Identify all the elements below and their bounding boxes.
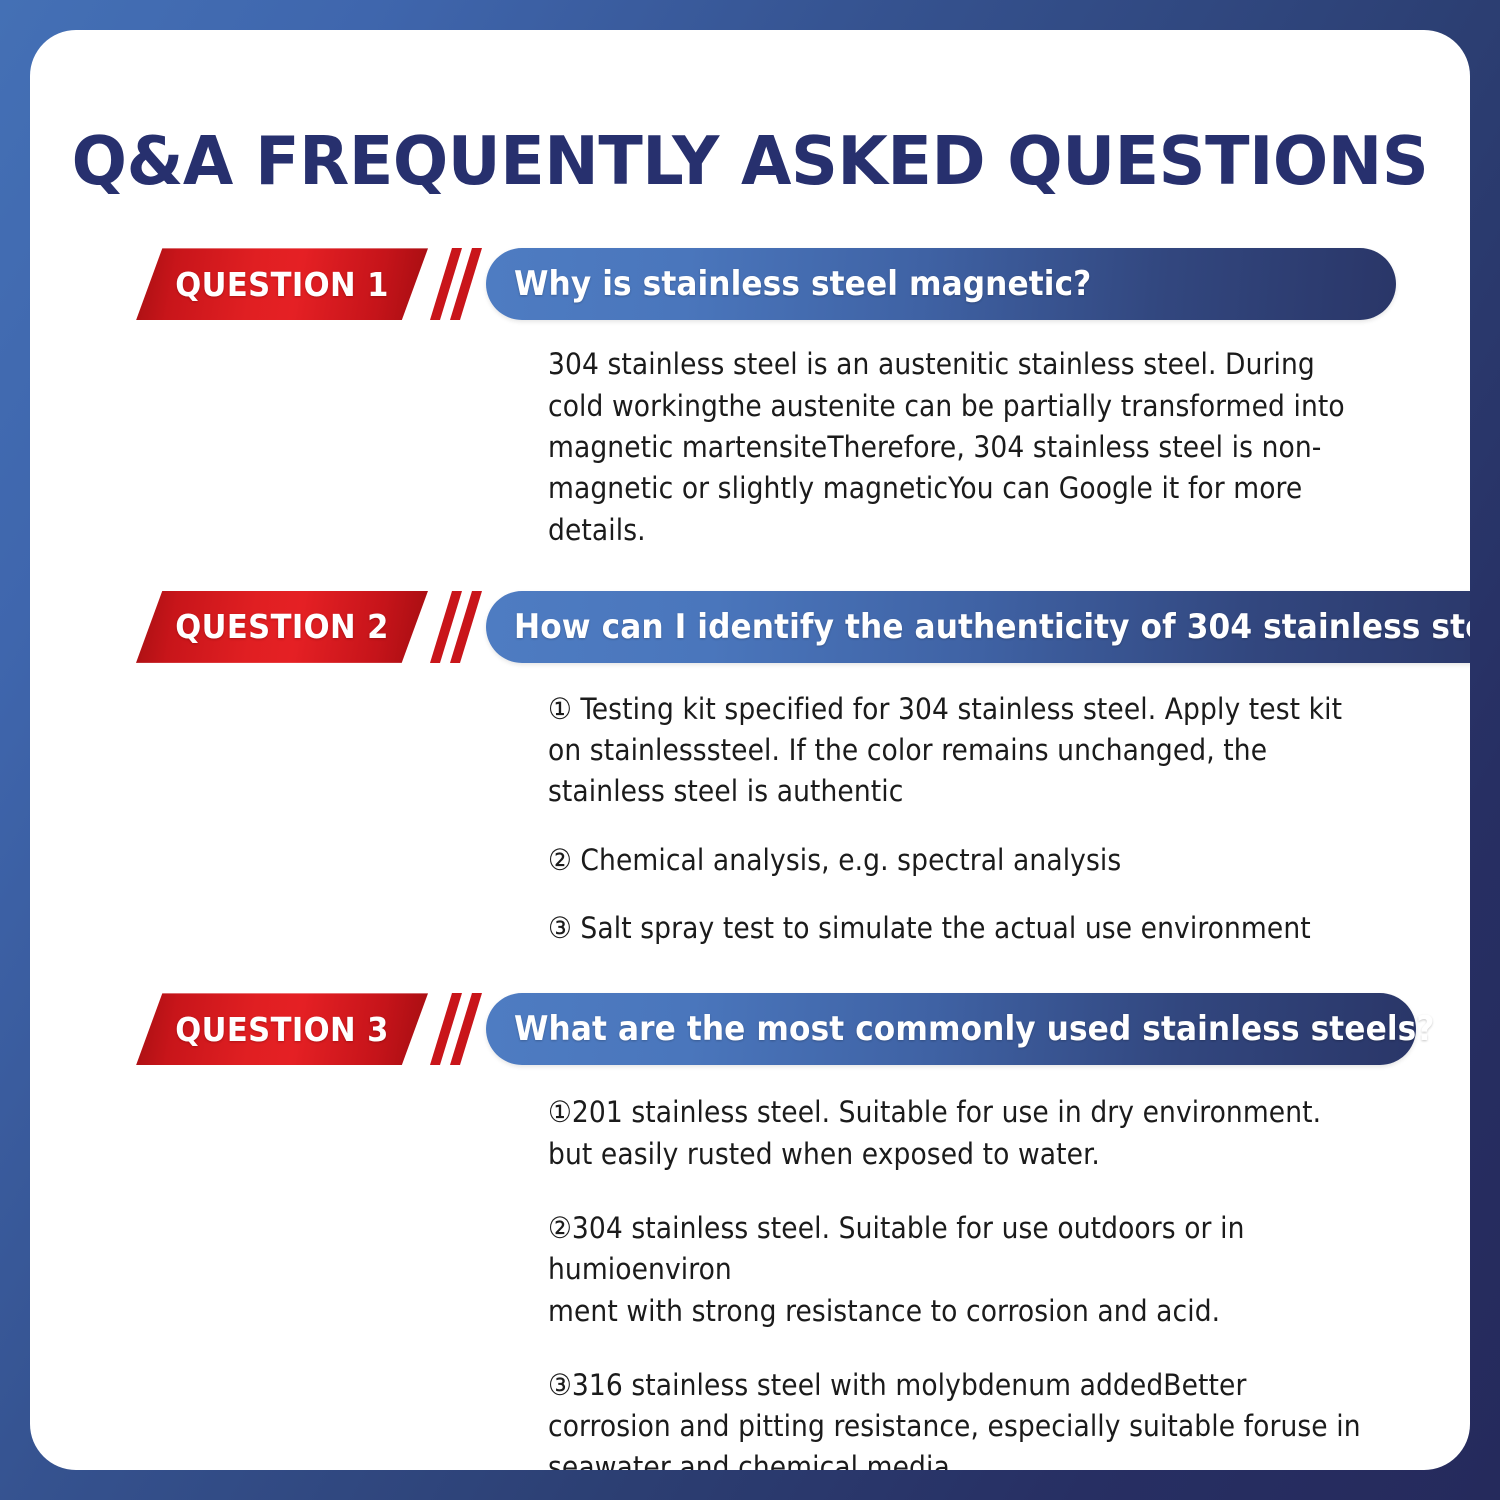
question-pill-2[interactable]: How can I identify the authenticity of 3… [486, 591, 1470, 663]
answer-paragraph: ① Testing kit specified for 304 stainles… [548, 689, 1374, 813]
question-header-1: QUESTION 1 Why is stainless steel magnet… [104, 248, 1396, 320]
answer-paragraph: ②304 stainless steel. Suitable for use o… [548, 1208, 1374, 1332]
question-header-2: QUESTION 2 How can I identify the authen… [104, 591, 1396, 663]
slash-separator-icon-3 [428, 993, 486, 1065]
slash-separator-icon-2 [428, 591, 486, 663]
faq-card: Q&A FREQUENTLY ASKED QUESTIONS QUESTION … [30, 30, 1470, 1470]
question-badge-1[interactable]: QUESTION 1 [136, 248, 428, 320]
answer-paragraph: ③316 stainless steel with molybdenum add… [548, 1365, 1374, 1470]
question-badge-label-3: QUESTION 3 [132, 993, 433, 1065]
qa-block-1: QUESTION 1 Why is stainless steel magnet… [104, 248, 1396, 550]
slash-separator-icon-1 [428, 248, 486, 320]
question-header-3: QUESTION 3 What are the most commonly us… [104, 993, 1396, 1065]
question-badge-3[interactable]: QUESTION 3 [136, 993, 428, 1065]
answer-paragraph: ①201 stainless steel. Suitable for use i… [548, 1092, 1374, 1175]
answer-body-2: ① Testing kit specified for 304 stainles… [104, 663, 1396, 949]
answer-body-1: 304 stainless steel is an austenitic sta… [104, 320, 1396, 550]
question-badge-label-1: QUESTION 1 [132, 248, 433, 320]
question-text-3: What are the most commonly used stainles… [514, 1009, 1435, 1049]
answer-paragraph: 304 stainless steel is an austenitic sta… [548, 344, 1374, 550]
answer-paragraph: ② Chemical analysis, e.g. spectral analy… [548, 840, 1374, 881]
question-badge-label-2: QUESTION 2 [132, 591, 433, 663]
question-badge-2[interactable]: QUESTION 2 [136, 591, 428, 663]
qa-block-3: QUESTION 3 What are the most commonly us… [104, 993, 1396, 1470]
question-text-2: How can I identify the authenticity of 3… [514, 607, 1470, 647]
question-text-1: Why is stainless steel magnetic? [514, 264, 1091, 304]
qa-block-2: QUESTION 2 How can I identify the authen… [104, 591, 1396, 949]
question-pill-3[interactable]: What are the most commonly used stainles… [486, 993, 1416, 1065]
page-title: Q&A FREQUENTLY ASKED QUESTIONS [52, 126, 1447, 196]
answer-paragraph: ③ Salt spray test to simulate the actual… [548, 908, 1374, 949]
question-pill-1[interactable]: Why is stainless steel magnetic? [486, 248, 1396, 320]
answer-body-3: ①201 stainless steel. Suitable for use i… [104, 1065, 1396, 1470]
